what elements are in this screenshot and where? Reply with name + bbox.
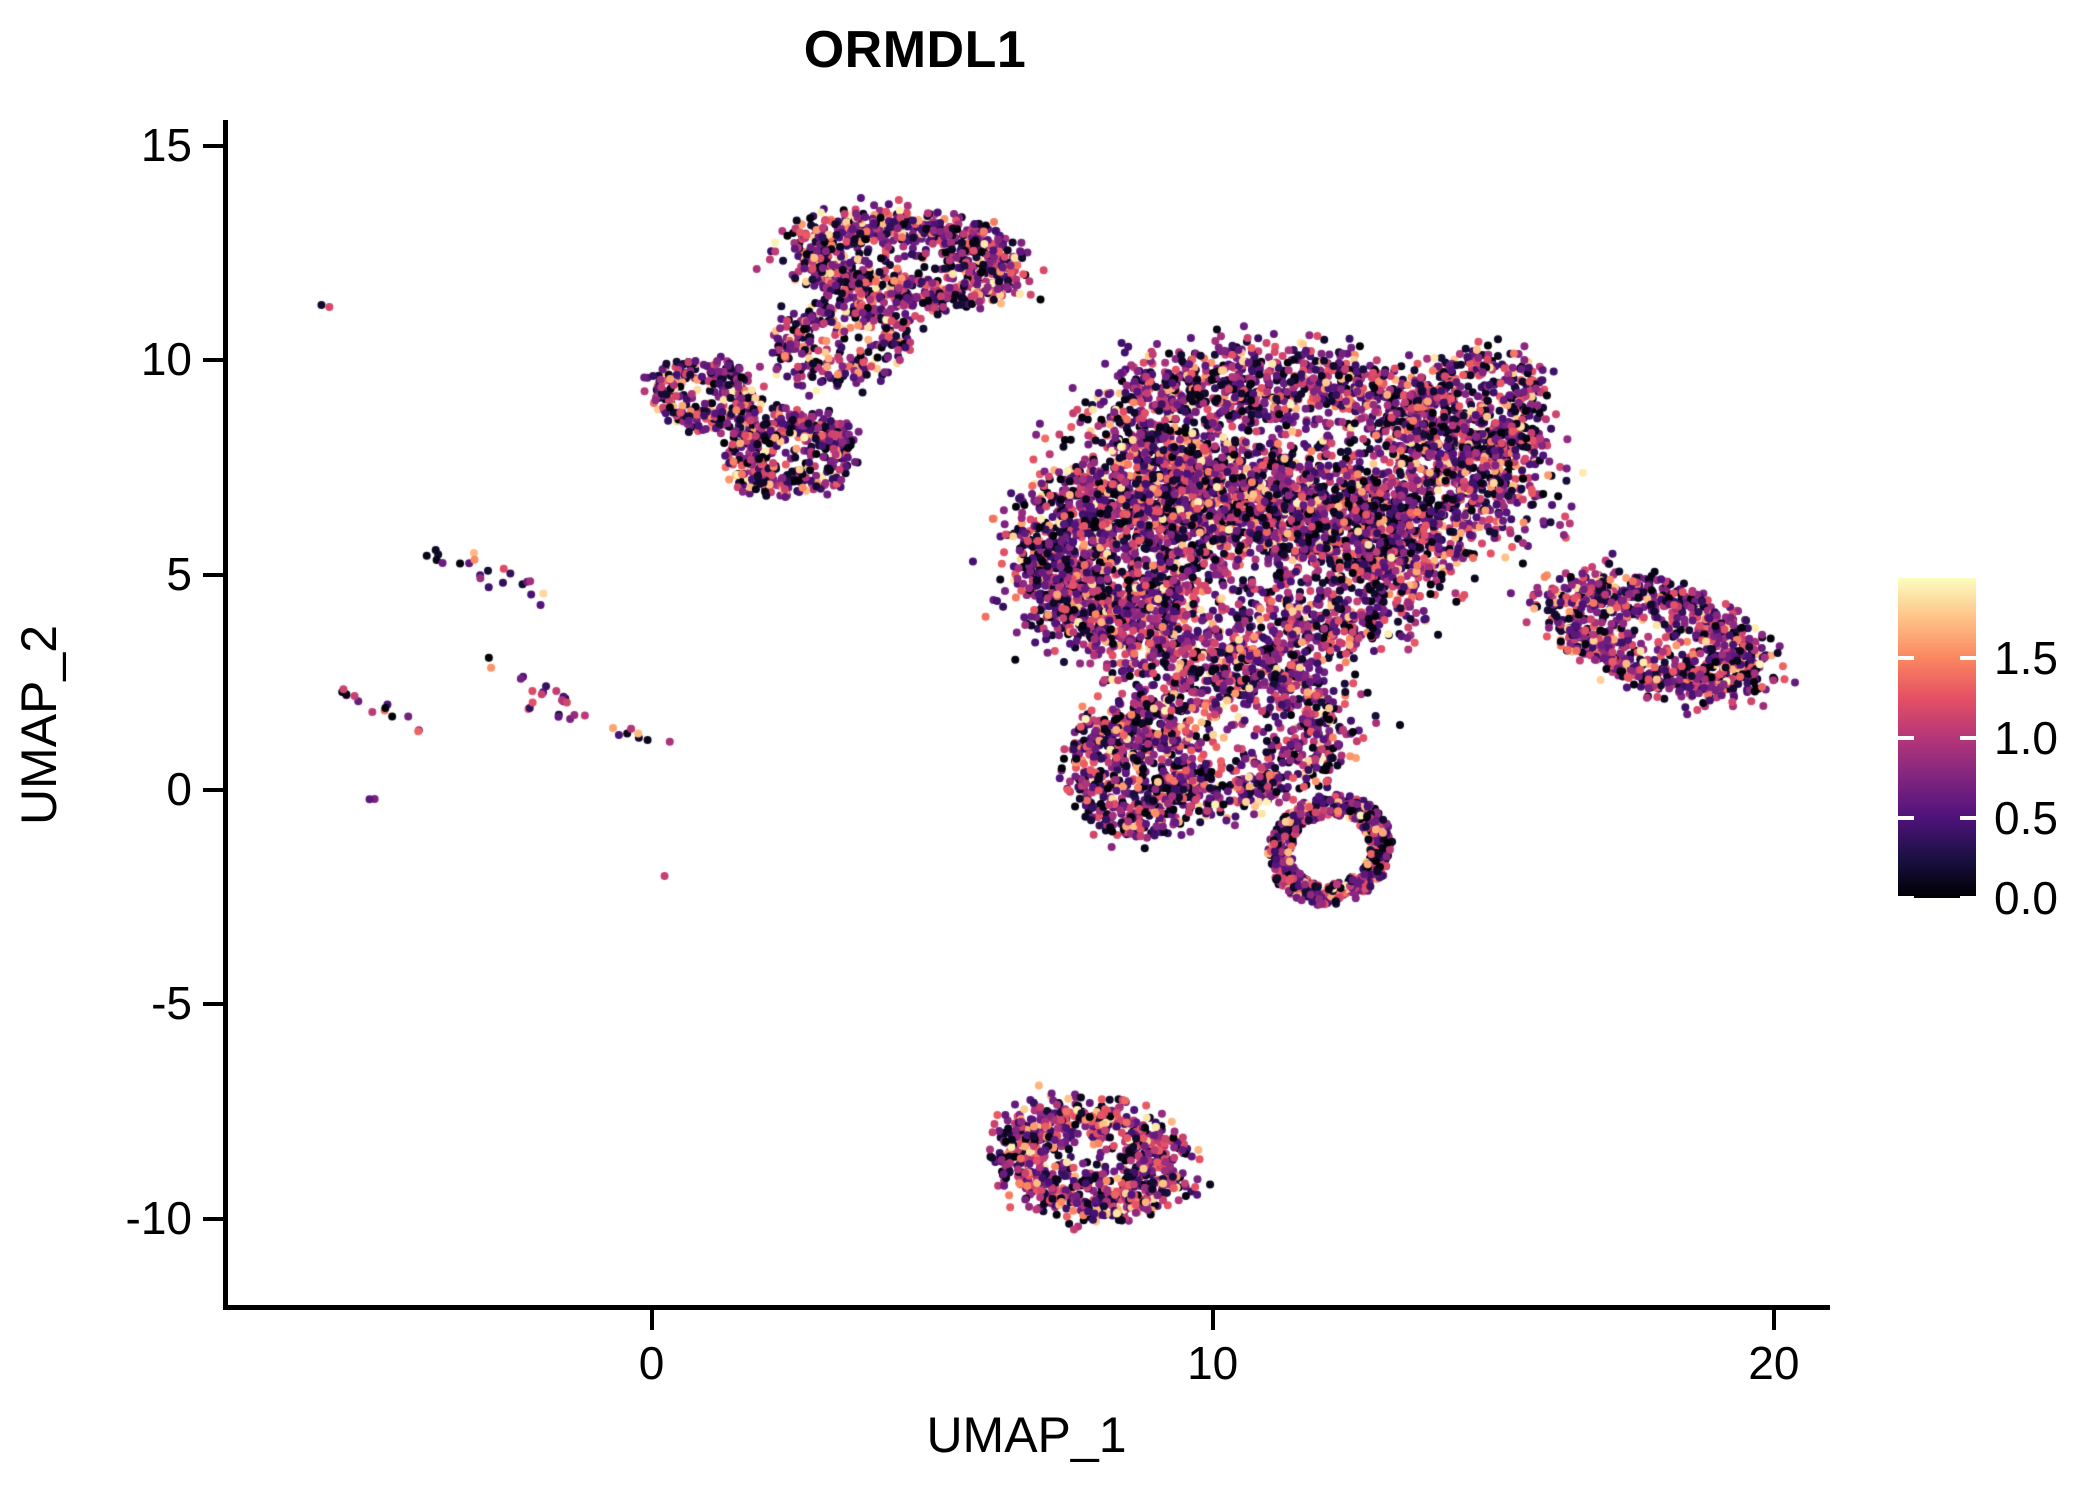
- y-tick-label: -5: [151, 980, 192, 1026]
- x-tick-label: 10: [1187, 1340, 1238, 1386]
- page-title: ORMDL1: [0, 24, 1830, 76]
- color-legend-tick-label: 1.5: [1994, 635, 2058, 681]
- x-tick-label: 20: [1748, 1340, 1799, 1386]
- color-legend-tick-label: 0.0: [1994, 875, 2058, 921]
- color-legend-tick-mark: [1898, 896, 1914, 900]
- color-legend-tick-mark: [1898, 656, 1914, 660]
- y-tick-mark: [203, 144, 223, 148]
- y-tick-label: 15: [141, 122, 192, 168]
- y-tick-mark: [203, 788, 223, 792]
- y-tick-mark: [203, 358, 223, 362]
- color-legend-tick-mark: [1898, 816, 1914, 820]
- color-legend: 1.51.00.50.0: [1898, 570, 2088, 910]
- color-legend-tick-mark: [1960, 816, 1976, 820]
- x-tick-mark: [1772, 1310, 1776, 1330]
- umap-feature-plot: ORMDL1 -10-5051015 01020 UMAP_1 UMAP_2 1…: [0, 0, 2100, 1500]
- color-legend-tick-mark: [1960, 656, 1976, 660]
- x-axis-title: UMAP_1: [223, 1410, 1830, 1460]
- scatter-plot-canvas: [225, 120, 1830, 1305]
- color-legend-tick-label: 1.0: [1994, 715, 2058, 761]
- color-legend-tick-mark: [1960, 736, 1976, 740]
- y-tick-label: 10: [141, 336, 192, 382]
- y-tick-label: -10: [126, 1195, 192, 1241]
- y-axis-line: [223, 120, 228, 1310]
- color-legend-tick-mark: [1898, 736, 1914, 740]
- y-axis-title: UMAP_2: [14, 130, 64, 1320]
- x-tick-mark: [1211, 1310, 1215, 1330]
- x-axis-line: [223, 1305, 1830, 1310]
- x-tick-mark: [650, 1310, 654, 1330]
- color-legend-tick-mark: [1960, 896, 1976, 900]
- y-tick-mark: [203, 1002, 223, 1006]
- y-tick-mark: [203, 573, 223, 577]
- y-tick-label: 0: [166, 766, 192, 812]
- y-tick-mark: [203, 1217, 223, 1221]
- x-tick-label: 0: [639, 1340, 665, 1386]
- color-legend-tick-label: 0.5: [1994, 795, 2058, 841]
- y-tick-label: 5: [166, 551, 192, 597]
